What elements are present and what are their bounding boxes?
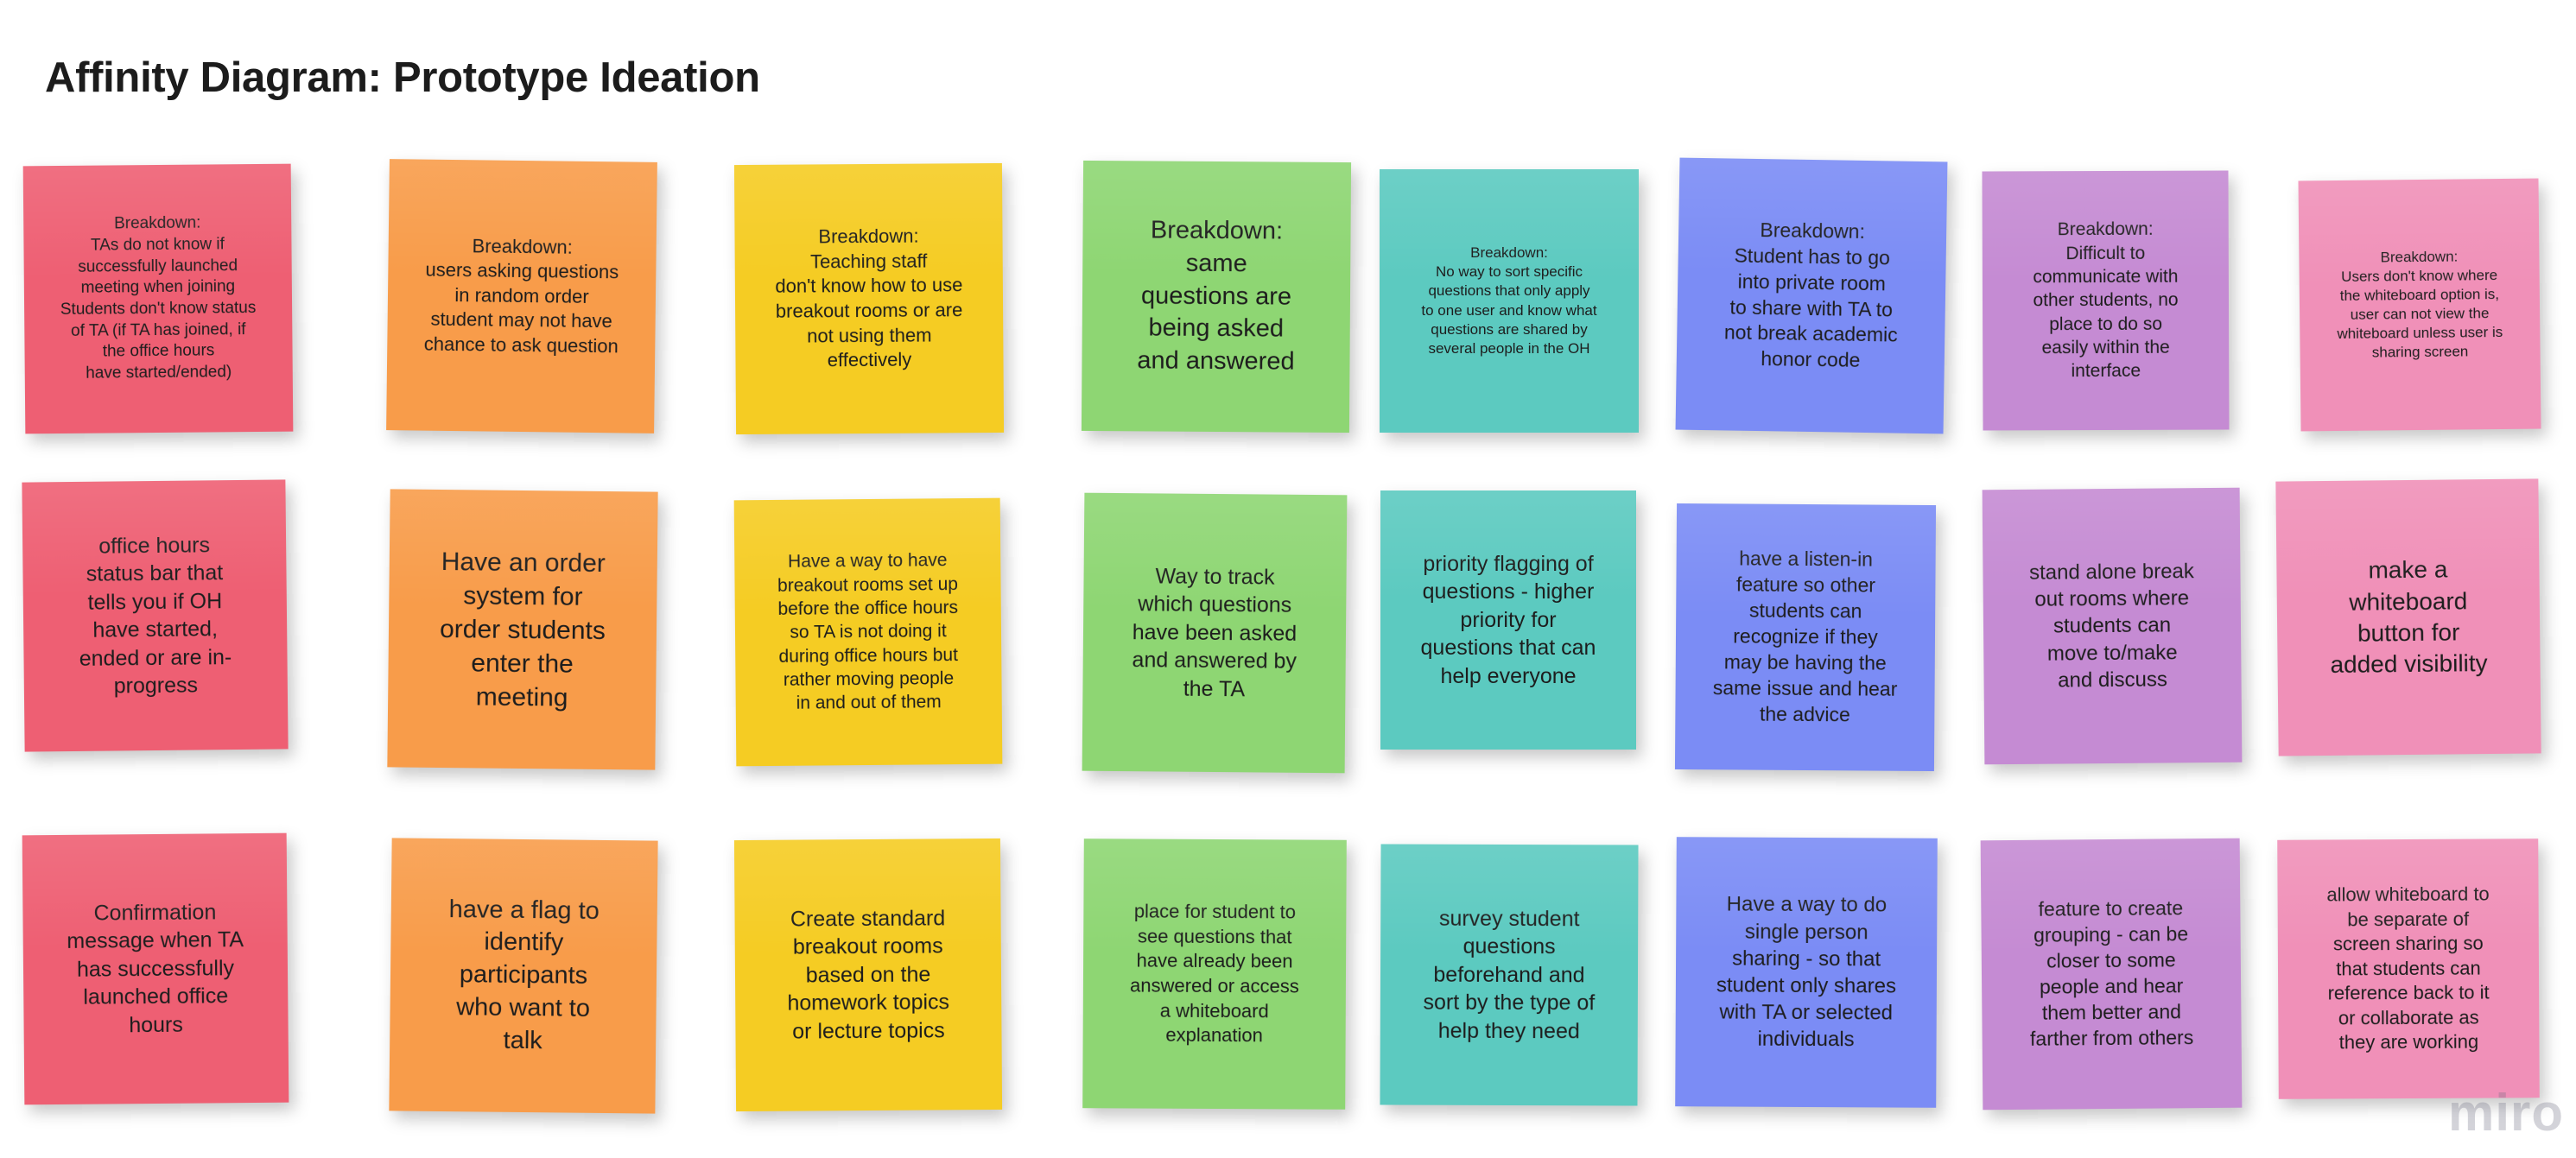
- sticky-note-r1c7[interactable]: Breakdown: Difficult to communicate with…: [1982, 171, 2229, 431]
- sticky-note-text: Way to track which questions have been a…: [1093, 562, 1336, 705]
- sticky-note-r3c4[interactable]: place for student to see questions that …: [1082, 838, 1347, 1110]
- sticky-note-r1c1[interactable]: Breakdown: TAs do not know if successful…: [23, 164, 294, 434]
- sticky-note-r2c2[interactable]: Have an order system for order students …: [387, 489, 657, 769]
- sticky-note-text: Have an order system for order students …: [398, 544, 647, 715]
- sticky-note-text: priority flagging of questions - higher …: [1391, 550, 1626, 691]
- sticky-note-r1c8[interactable]: Breakdown: Users don't know where the wh…: [2298, 179, 2541, 432]
- sticky-note-r2c3[interactable]: Have a way to have breakout rooms set up…: [734, 498, 1003, 767]
- page-title: Affinity Diagram: Prototype Ideation: [45, 54, 760, 102]
- sticky-note-text: Breakdown: Teaching staff don't know how…: [745, 224, 993, 374]
- sticky-note-r1c5[interactable]: Breakdown: No way to sort specific quest…: [1380, 169, 1639, 433]
- sticky-note-text: Breakdown: No way to sort specific quest…: [1390, 244, 1628, 358]
- sticky-note-text: Have a way to do single person sharing -…: [1686, 891, 1927, 1054]
- sticky-note-r3c7[interactable]: feature to create grouping - can be clos…: [1981, 838, 2243, 1111]
- sticky-note-text: Breakdown: Difficult to communicate with…: [1993, 218, 2219, 383]
- sticky-note-text: have a listen-in feature so other studen…: [1685, 546, 1925, 728]
- sticky-note-r2c6[interactable]: have a listen-in feature so other studen…: [1675, 503, 1936, 771]
- sticky-note-r2c8[interactable]: make a whiteboard button for added visib…: [2275, 478, 2541, 756]
- sticky-note-r3c8[interactable]: allow whiteboard to be separate of scree…: [2277, 838, 2540, 1099]
- sticky-note-r2c1[interactable]: office hours status bar that tells you i…: [22, 479, 288, 751]
- sticky-note-text: Confirmation message when TA has success…: [33, 898, 277, 1041]
- sticky-note-text: Breakdown: Student has to go into privat…: [1687, 217, 1937, 376]
- sticky-note-r2c4[interactable]: Way to track which questions have been a…: [1082, 493, 1348, 774]
- sticky-note-r1c6[interactable]: Breakdown: Student has to go into privat…: [1676, 158, 1948, 434]
- sticky-note-r3c1[interactable]: Confirmation message when TA has success…: [22, 833, 289, 1105]
- sticky-note-text: stand alone break out rooms where studen…: [1993, 558, 2230, 694]
- sticky-note-text: Create standard breakout rooms based on …: [745, 904, 991, 1046]
- sticky-note-text: Breakdown: users asking questions in ran…: [397, 233, 646, 359]
- sticky-note-r3c6[interactable]: Have a way to do single person sharing -…: [1675, 837, 1938, 1108]
- sticky-note-text: Breakdown: Users don't know where the wh…: [2309, 246, 2529, 363]
- sticky-note-r3c3[interactable]: Create standard breakout rooms based on …: [734, 838, 1002, 1111]
- sticky-note-text: Breakdown: same questions are being aske…: [1092, 214, 1340, 378]
- sticky-note-r3c2[interactable]: have a flag to identify participants who…: [389, 838, 657, 1113]
- sticky-note-r1c4[interactable]: Breakdown: same questions are being aske…: [1082, 161, 1351, 433]
- sticky-note-text: Breakdown: TAs do not know if successful…: [34, 212, 282, 385]
- sticky-note-r1c3[interactable]: Breakdown: Teaching staff don't know how…: [734, 163, 1004, 434]
- sticky-note-text: have a flag to identify participants who…: [400, 893, 647, 1058]
- sticky-note-r1c2[interactable]: Breakdown: users asking questions in ran…: [386, 159, 657, 433]
- affinity-diagram-board: Affinity Diagram: Prototype Ideation Bre…: [0, 0, 2576, 1158]
- sticky-note-text: survey student questions beforehand and …: [1391, 904, 1628, 1045]
- sticky-note-text: place for student to see questions that …: [1094, 899, 1336, 1048]
- sticky-note-r3c5[interactable]: survey student questions beforehand and …: [1380, 844, 1638, 1105]
- sticky-note-text: feature to create grouping - can be clos…: [1991, 895, 2231, 1053]
- sticky-note-text: Have a way to have breakout rooms set up…: [745, 548, 992, 716]
- sticky-note-r2c7[interactable]: stand alone break out rooms where studen…: [1983, 488, 2243, 765]
- sticky-note-r2c5[interactable]: priority flagging of questions - higher …: [1380, 490, 1636, 750]
- sticky-note-text: office hours status bar that tells you i…: [33, 530, 277, 701]
- miro-watermark: miro: [2448, 1083, 2564, 1142]
- sticky-note-text: allow whiteboard to be separate of scree…: [2287, 882, 2528, 1056]
- sticky-note-text: make a whiteboard button for added visib…: [2287, 554, 2530, 681]
